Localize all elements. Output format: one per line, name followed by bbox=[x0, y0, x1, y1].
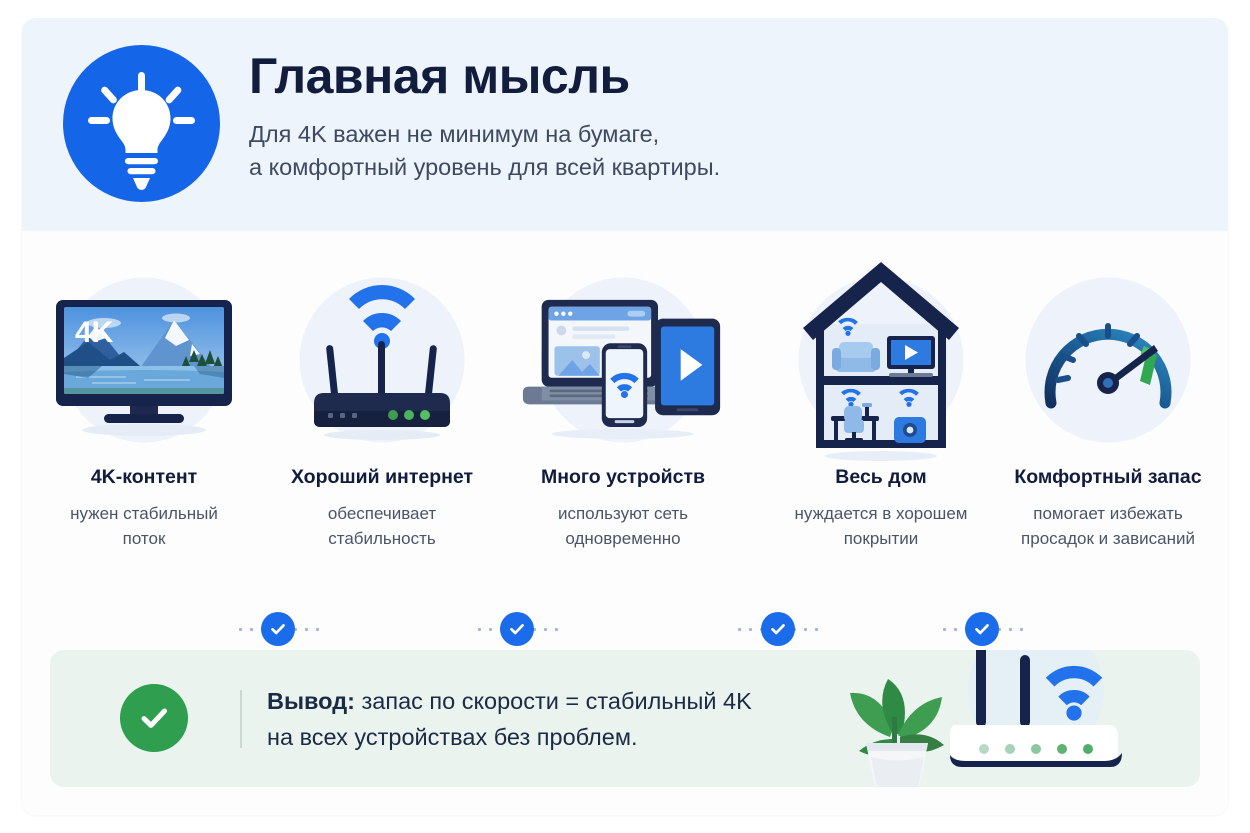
connector-4 bbox=[939, 612, 1025, 646]
header-band: Главная мысль Для 4K важен не минимум на… bbox=[22, 18, 1228, 231]
multiple-devices-icon bbox=[517, 275, 729, 445]
conclusion-line-1: запас по скорости = стабильный 4K bbox=[355, 688, 752, 714]
connector-2 bbox=[474, 612, 560, 646]
step-desc-line-2: покрытии bbox=[774, 527, 989, 552]
step-title: Весь дом bbox=[835, 466, 926, 489]
step-art bbox=[276, 254, 488, 466]
steps-strip: 4K 4K-контент нужен стабильный поток bbox=[22, 254, 1228, 614]
wifi-router-icon bbox=[292, 275, 472, 445]
step-many-devices: Много устройств используют сеть одноврем… bbox=[517, 254, 729, 614]
house-coverage-icon bbox=[791, 254, 971, 466]
divider bbox=[240, 690, 242, 748]
step-desc-line-2: одновременно bbox=[516, 527, 731, 552]
page-subtitle: Для 4K важен не минимум на бумаге, а ком… bbox=[249, 118, 1149, 185]
step-description: используют сеть одновременно bbox=[516, 502, 731, 552]
step-title: 4K-контент bbox=[91, 466, 197, 489]
check-circle-icon bbox=[500, 612, 534, 646]
conclusion-banner: Вывод: запас по скорости = стабильный 4K… bbox=[50, 650, 1200, 787]
step-desc-line-1: используют сеть bbox=[516, 502, 731, 527]
step-art bbox=[775, 254, 987, 466]
step-desc-line-1: нужен стабильный bbox=[37, 502, 252, 527]
step-desc-line-2: просадок и зависаний bbox=[1001, 527, 1216, 552]
header-text-block: Главная мысль Для 4K важен не минимум на… bbox=[249, 48, 1149, 185]
connector-3 bbox=[734, 612, 822, 646]
step-title: Хороший интернет bbox=[291, 466, 473, 489]
step-comfort-margin: Комфортный запас помогает избежать проса… bbox=[1002, 254, 1214, 614]
page-title: Главная мысль bbox=[249, 48, 1149, 105]
step-desc-line-1: обеспечивает bbox=[275, 502, 490, 527]
step-whole-house: Весь дом нуждается в хорошем покрытии bbox=[775, 254, 987, 614]
router-plant-icon bbox=[838, 650, 1138, 787]
step-desc-line-1: нуждается в хорошем bbox=[774, 502, 989, 527]
step-title: Комфортный запас bbox=[1014, 466, 1201, 489]
subtitle-line-1: Для 4K важен не минимум на бумаге, bbox=[249, 118, 1149, 151]
step-desc-line-2: поток bbox=[37, 527, 252, 552]
step-desc-line-2: стабильность bbox=[275, 527, 490, 552]
infographic-page: Главная мысль Для 4K важен не минимум на… bbox=[0, 0, 1250, 833]
svg-text:4K: 4K bbox=[75, 316, 114, 349]
check-circle-icon bbox=[761, 612, 795, 646]
check-circle-icon bbox=[261, 612, 295, 646]
step-art bbox=[517, 254, 729, 466]
step-description: нужен стабильный поток bbox=[37, 502, 252, 552]
check-circle-icon bbox=[965, 612, 999, 646]
step-description: обеспечивает стабильность bbox=[275, 502, 490, 552]
step-art: 4K bbox=[38, 254, 250, 466]
step-good-internet: Хороший интернет обеспечивает стабильнос… bbox=[276, 254, 488, 614]
step-description: помогает избежать просадок и зависаний bbox=[1001, 502, 1216, 552]
step-description: нуждается в хорошем покрытии bbox=[774, 502, 989, 552]
check-circle-icon bbox=[120, 684, 188, 752]
conclusion-text: Вывод: запас по скорости = стабильный 4K… bbox=[267, 684, 867, 755]
step-art bbox=[1002, 254, 1214, 466]
subtitle-line-2: а комфортный уровень для всей квартиры. bbox=[249, 151, 1149, 184]
connector-1 bbox=[235, 612, 321, 646]
conclusion-label: Вывод: bbox=[267, 688, 355, 714]
tv-4k-icon: 4K bbox=[44, 280, 244, 440]
step-desc-line-1: помогает избежать bbox=[1001, 502, 1216, 527]
step-title: Много устройств bbox=[541, 466, 705, 489]
lightbulb-icon bbox=[63, 45, 220, 202]
speedometer-icon bbox=[1023, 285, 1193, 435]
step-4k-content: 4K 4K-контент нужен стабильный поток bbox=[38, 254, 250, 614]
infographic-card: Главная мысль Для 4K важен не минимум на… bbox=[22, 18, 1228, 815]
conclusion-line-2: на всех устройствах без проблем. bbox=[267, 720, 867, 756]
